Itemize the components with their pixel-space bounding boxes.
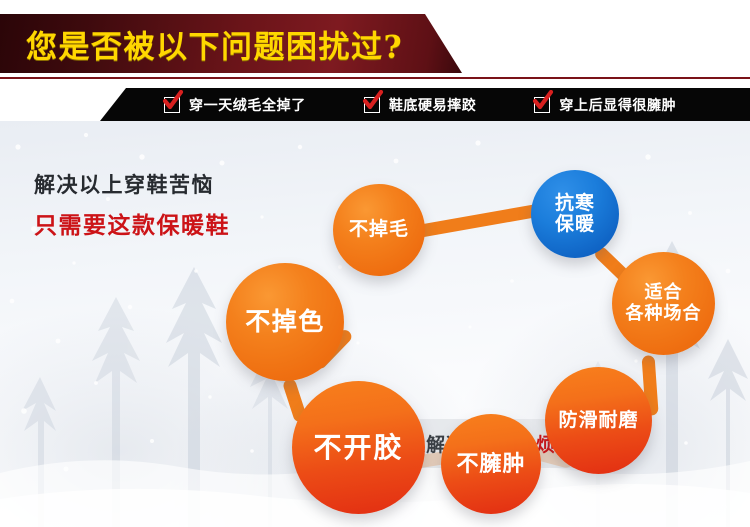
problem-item-label: 穿一天绒毛全掉了	[189, 95, 306, 115]
benefit-label: 抗寒 保暖	[555, 193, 595, 236]
benefit-label: 不掉色	[245, 308, 325, 336]
problem-item-2: 穿上后显得很臃肿	[534, 95, 676, 115]
problem-item-label: 鞋底硬易摔跤	[389, 95, 477, 115]
problem-item-label: 穿上后显得很臃肿	[559, 95, 676, 115]
headline-line-2: 只需要这款保暖鞋	[34, 206, 230, 240]
headline-line-1: 解决以上穿鞋苦恼	[34, 169, 230, 199]
product-infographic: 您是否被以下问题困扰过? 穿一天绒毛全掉了 鞋底硬易摔跤 穿上	[0, 0, 750, 527]
benefit-bubble-budiaomao[interactable]: 不掉毛	[333, 184, 425, 276]
benefit-label-line-2: 各种场合	[626, 303, 702, 324]
benefit-label-line-2: 保暖	[555, 213, 595, 235]
benefit-label: 不臃肿	[456, 452, 525, 477]
problem-item-0: 穿一天绒毛全掉了	[164, 95, 306, 115]
benefit-bubble-buyongzhong[interactable]: 不臃肿	[441, 414, 541, 514]
problem-bar: 穿一天绒毛全掉了 鞋底硬易摔跤 穿上后显得很臃肿	[100, 88, 750, 121]
benefit-label: 适合 各种场合	[626, 283, 702, 323]
header-divider-rule	[0, 77, 750, 79]
checkmark-icon	[364, 97, 380, 113]
benefit-label-line-1: 适合	[645, 282, 683, 303]
problem-list: 穿一天绒毛全掉了 鞋底硬易摔跤 穿上后显得很臃肿	[100, 88, 750, 121]
benefit-label-line-1: 抗寒	[555, 192, 595, 214]
problem-item-1: 鞋底硬易摔跤	[364, 95, 477, 115]
checkmark-icon	[164, 97, 180, 113]
benefit-bubble-bukaijiao[interactable]: 不开胶	[292, 381, 425, 514]
benefit-bubble-fanghuanaimo[interactable]: 防滑耐磨	[545, 367, 652, 474]
benefit-bubble-kanghanbaonuan[interactable]: 抗寒 保暖	[531, 170, 619, 258]
headline-block: 解决以上穿鞋苦恼 只需要这款保暖鞋	[34, 169, 230, 240]
benefit-label: 不掉毛	[349, 219, 409, 240]
snow-scene: 一次解决 7 大烦恼 解决以上穿鞋苦恼 只需要这款保暖鞋 不掉毛 抗寒 保暖 适…	[0, 121, 750, 527]
page-title: 您是否被以下问题困扰过?	[26, 22, 403, 67]
benefit-bubble-budiaose[interactable]: 不掉色	[226, 263, 344, 381]
benefit-label: 防滑耐磨	[558, 410, 638, 431]
benefit-label: 不开胶	[313, 432, 403, 463]
header-zone: 您是否被以下问题困扰过?	[0, 0, 750, 88]
benefit-bubble-shihegezhongchanghe[interactable]: 适合 各种场合	[612, 252, 715, 355]
checkmark-icon	[534, 97, 550, 113]
